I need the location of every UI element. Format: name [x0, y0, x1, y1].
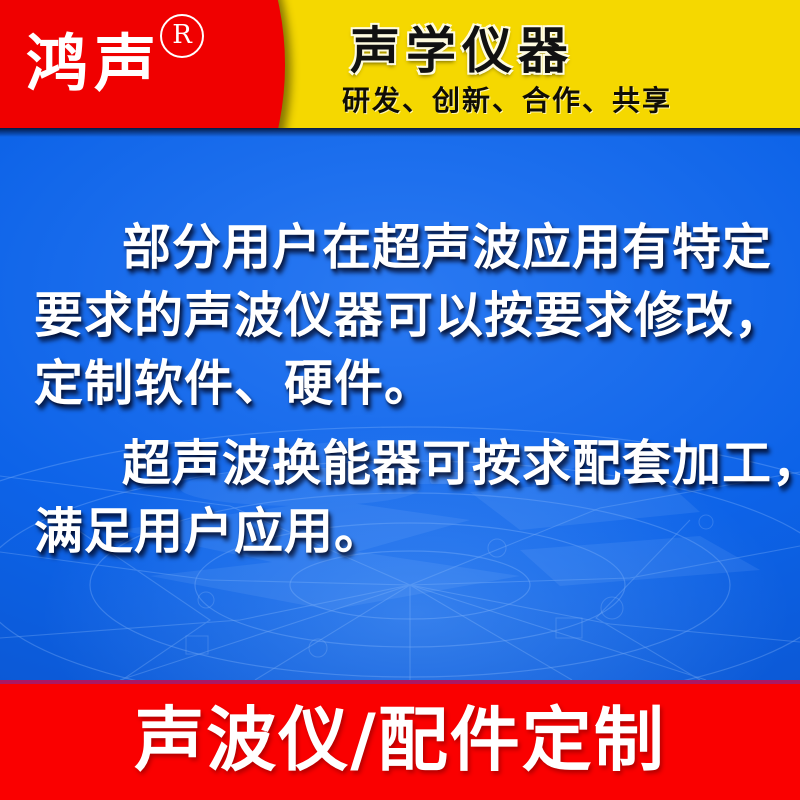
- paragraph-spacer: [34, 418, 766, 430]
- footer-banner-text: 声波仪/配件定制: [134, 698, 666, 782]
- copy-line: 要求的声波仪器可以按要求修改，: [34, 282, 766, 350]
- copy-line: 满足用户应用。: [34, 498, 766, 566]
- main-copy: 部分用户在超声波应用有特定 要求的声波仪器可以按要求修改， 定制软件、硬件。 超…: [0, 214, 800, 566]
- page-subtitle: 研发、创新、合作、共享: [342, 84, 672, 118]
- poster-header: 鸿声 R 声学仪器 研发、创新、合作、共享: [0, 0, 800, 128]
- copy-line: 部分用户在超声波应用有特定: [34, 214, 766, 282]
- copy-line: 定制软件、硬件。: [34, 350, 766, 418]
- product-poster: 鸿声 R 声学仪器 研发、创新、合作、共享: [0, 0, 800, 800]
- registered-trademark-icon: R: [160, 14, 204, 58]
- page-title: 声学仪器: [350, 20, 574, 82]
- poster-footer-banner: 声波仪/配件定制: [0, 680, 800, 800]
- brand-logo-text: 鸿声: [26, 18, 162, 110]
- copy-line: 超声波换能器可按求配套加工，: [34, 430, 766, 498]
- footer-top-rule: [0, 680, 800, 684]
